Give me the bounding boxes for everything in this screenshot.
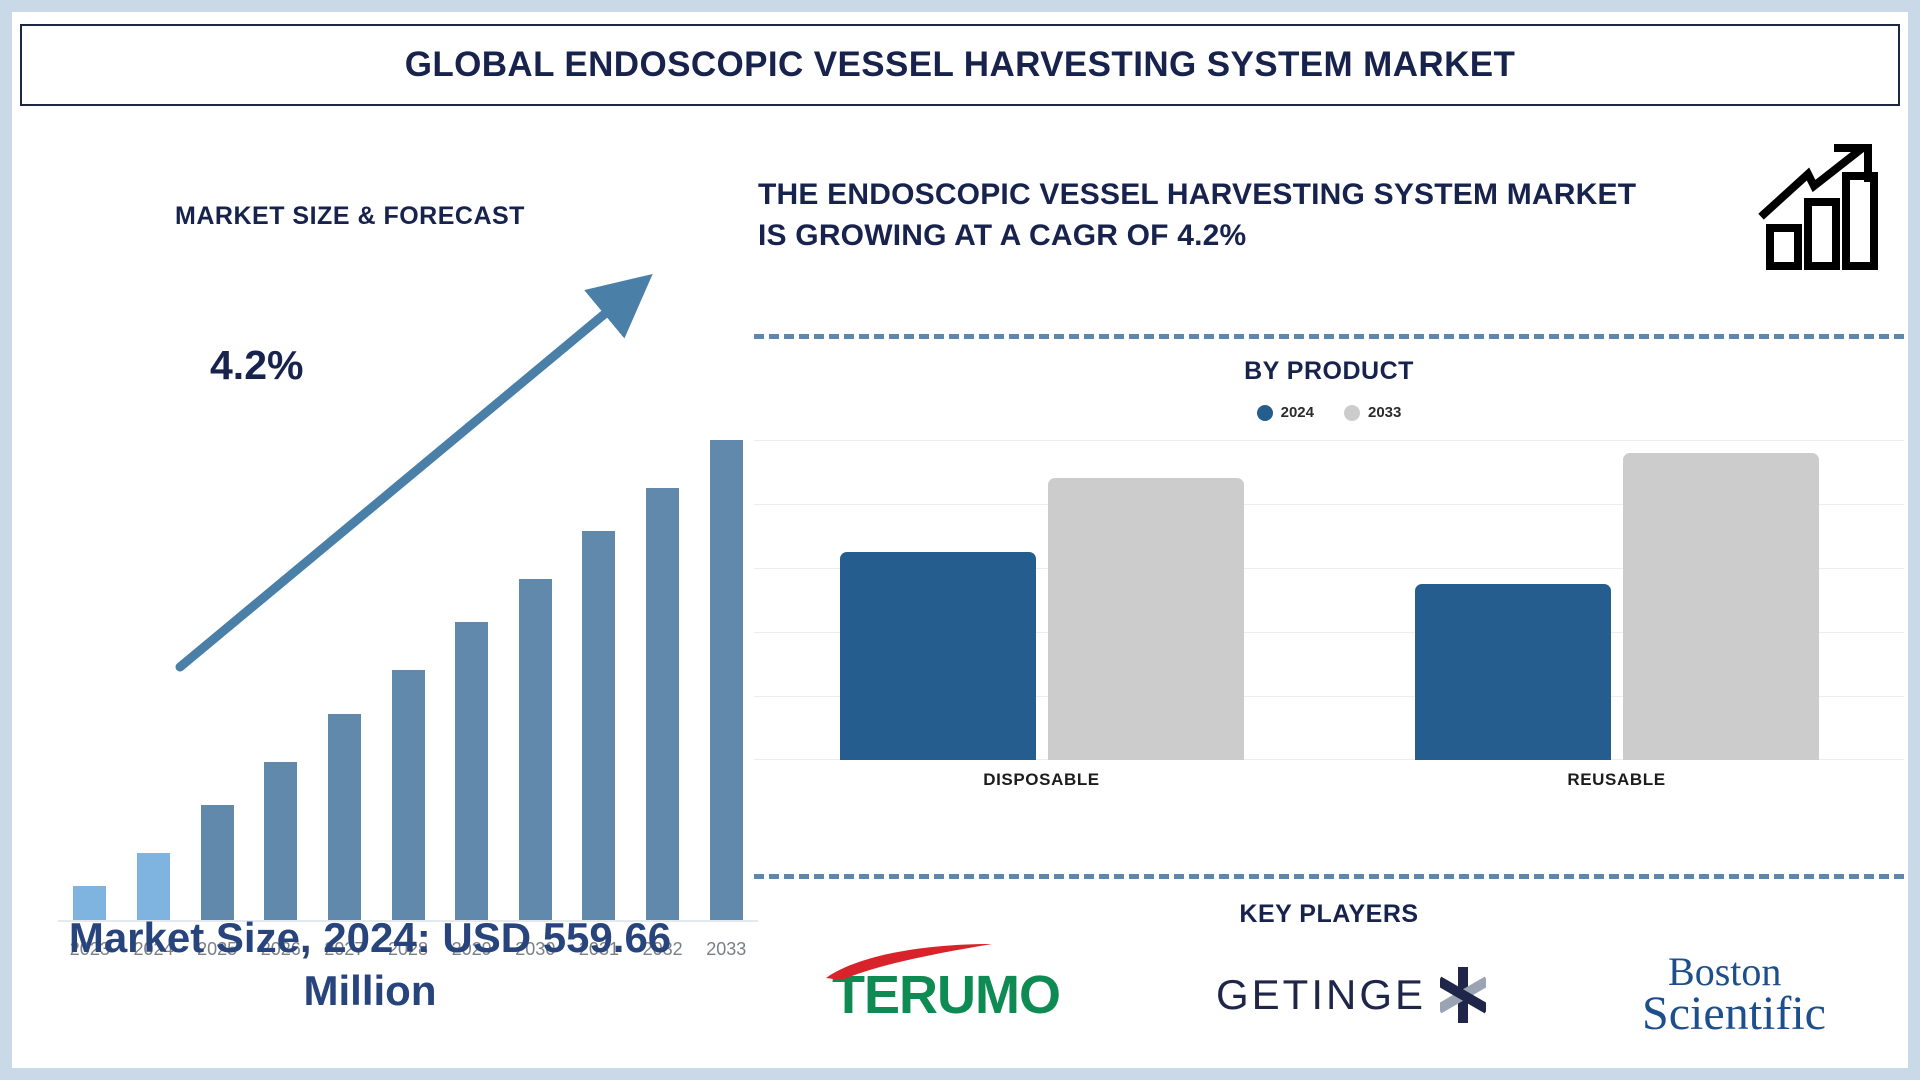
boston-line-2: Scientific: [1642, 991, 1826, 1037]
bar-2030: [519, 579, 552, 920]
bar-2031: [582, 531, 615, 920]
cagr-annotation-left: 4.2%: [210, 342, 303, 389]
bar-column: [249, 440, 313, 920]
legend-label-2033: 2033: [1368, 404, 1401, 421]
bar-2026: [264, 762, 297, 920]
terumo-logo: TERUMO: [832, 964, 1060, 1026]
getinge-wordmark: GETINGE: [1216, 971, 1426, 1019]
growth-chart-icon: [1756, 140, 1886, 270]
legend-item-2024: 2024: [1257, 404, 1314, 421]
section-divider-top: [754, 334, 1904, 339]
page-title-box: GLOBAL ENDOSCOPIC VESSEL HARVESTING SYST…: [20, 24, 1900, 106]
bar-2025: [201, 805, 234, 920]
market-size-value: Market Size, 2024: USD 559.66 Million: [20, 912, 720, 1018]
bar-2029: [455, 622, 488, 920]
infographic-page: GLOBAL ENDOSCOPIC VESSEL HARVESTING SYST…: [0, 0, 1920, 1080]
legend-label-2024: 2024: [1281, 404, 1314, 421]
legend-dot-2024: [1257, 405, 1273, 421]
bar-group-reusable: [1329, 440, 1904, 760]
legend-dot-2033: [1344, 405, 1360, 421]
boston-line-1: Boston: [1642, 953, 1826, 991]
getinge-logo: GETINGE: [1216, 967, 1486, 1023]
forecast-bars: [58, 440, 758, 920]
bar-column: [694, 440, 758, 920]
bar-column: [122, 440, 186, 920]
terumo-swoosh-icon: [824, 942, 1024, 982]
bar-2033: [710, 440, 743, 920]
bar-column: [567, 440, 631, 920]
section-divider-bottom: [754, 874, 1904, 879]
bar-disposable-2024: [840, 552, 1036, 760]
bar-2027: [328, 714, 361, 920]
category-axis-labels: DISPOSABLE REUSABLE: [754, 770, 1904, 790]
by-product-bar-chart: DISPOSABLE REUSABLE: [754, 440, 1904, 800]
key-players-logos: TERUMO GETINGE Boston Scientific: [754, 940, 1904, 1050]
bar-reusable-2033: [1623, 453, 1819, 760]
bar-disposable-2033: [1048, 478, 1244, 760]
market-size-forecast-heading: MARKET SIZE & FORECAST: [20, 202, 680, 231]
page-title: GLOBAL ENDOSCOPIC VESSEL HARVESTING SYST…: [405, 45, 1516, 85]
category-label-reusable: REUSABLE: [1329, 770, 1904, 790]
bar-column: [313, 440, 377, 920]
bar-2032: [646, 488, 679, 920]
key-players-heading: KEY PLAYERS: [754, 900, 1904, 929]
category-label-disposable: DISPOSABLE: [754, 770, 1329, 790]
bar-column: [503, 440, 567, 920]
bar-column: [58, 440, 122, 920]
bar-2028: [392, 670, 425, 920]
by-product-heading: BY PRODUCT: [754, 357, 1904, 386]
getinge-asterisk-icon: [1440, 967, 1486, 1023]
bar-column: [185, 440, 249, 920]
bar-column: [376, 440, 440, 920]
market-size-forecast-panel: MARKET SIZE & FORECAST 4.2%: [20, 122, 748, 1052]
market-details-panel: THE ENDOSCOPIC VESSEL HARVESTING SYSTEM …: [754, 122, 1904, 1052]
bar-2024: [137, 853, 170, 920]
chart-legend: 2024 2033: [754, 404, 1904, 421]
growth-headline: THE ENDOSCOPIC VESSEL HARVESTING SYSTEM …: [758, 174, 1658, 256]
bar-group-disposable: [754, 440, 1329, 760]
bar-column: [631, 440, 695, 920]
boston-scientific-logo: Boston Scientific: [1642, 953, 1826, 1037]
bar-groups: [754, 440, 1904, 760]
bar-reusable-2024: [1415, 584, 1611, 760]
legend-item-2033: 2033: [1344, 404, 1401, 421]
bar-column: [440, 440, 504, 920]
market-size-bar-chart: 2023 2024 2025 2026 2027 2028 2029 2030 …: [58, 422, 758, 982]
